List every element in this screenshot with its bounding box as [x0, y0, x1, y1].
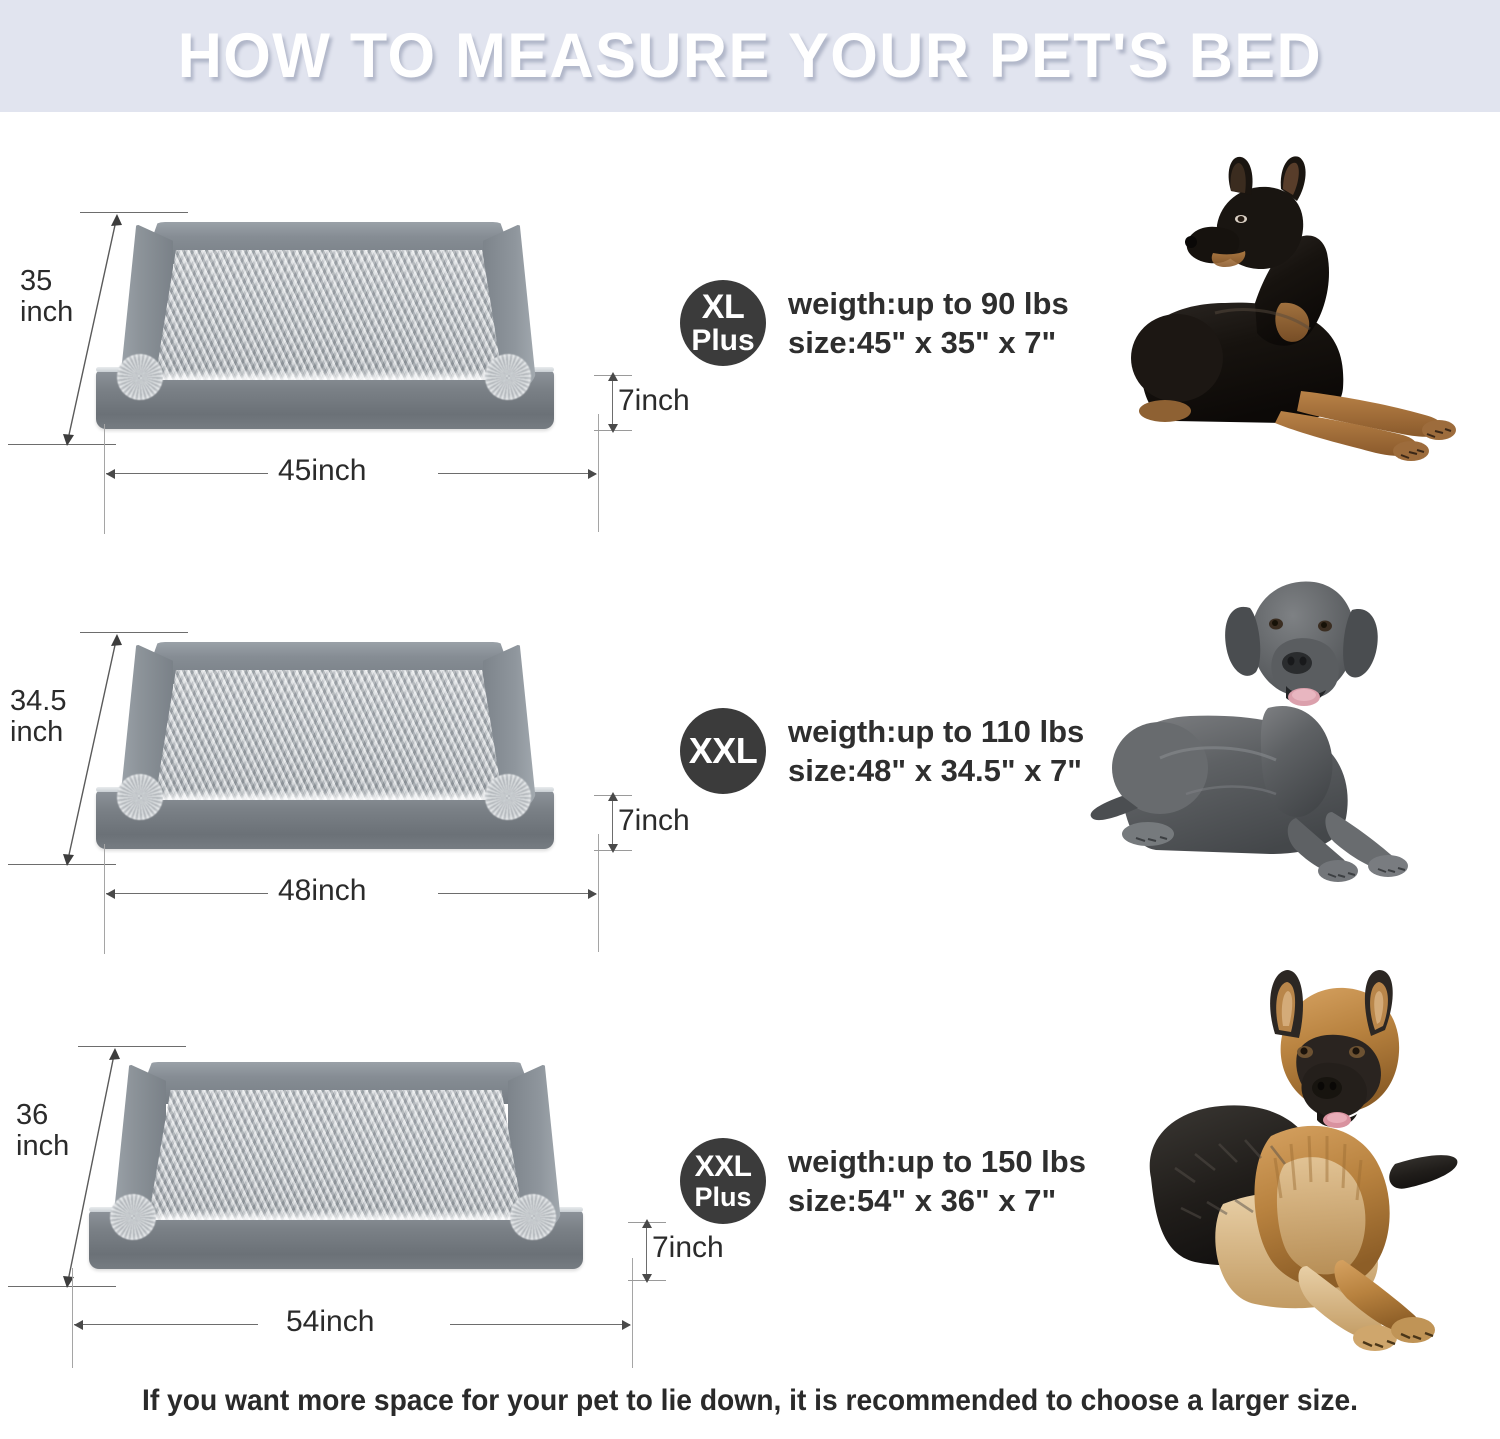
spec-block-3: XXL Plus weigth:up to 150 lbs size:54" x… — [680, 1138, 1100, 1224]
depth-arrow-up — [642, 1219, 652, 1228]
size-badge-xl-plus: XL Plus — [680, 280, 766, 366]
height-value: 35 — [20, 265, 52, 297]
badge-line-2: Plus — [694, 1184, 751, 1211]
width-extension-right — [598, 834, 599, 952]
width-arrow-right — [588, 469, 597, 479]
height-unit: inch — [16, 1130, 69, 1162]
depth-dimension-label: 7inch — [618, 385, 690, 417]
dog-photo-great-dane — [1090, 568, 1490, 898]
width-arrow-right — [622, 1320, 631, 1330]
width-dimension-line-left — [106, 893, 268, 894]
dog-bed-graphic — [88, 1054, 588, 1269]
width-arrow-left — [106, 469, 115, 479]
size-label: size:54" x 36" x 7" — [788, 1181, 1086, 1220]
width-dimension-label: 54inch — [286, 1306, 374, 1338]
width-dimension-label: 48inch — [278, 875, 366, 907]
height-value: 34.5 — [10, 685, 66, 717]
depth-arrow-down — [642, 1274, 652, 1283]
width-arrow-left — [106, 889, 115, 899]
width-arrow-left — [74, 1320, 83, 1330]
bed-seat-cushion — [148, 1090, 524, 1220]
height-dimension-arrow — [55, 1044, 125, 1292]
dog-photo-german-shepherd — [1095, 968, 1495, 1368]
size-label: size:45" x 35" x 7" — [788, 323, 1069, 362]
depth-arrow-down — [608, 424, 618, 433]
depth-arrow-down — [608, 844, 618, 853]
spec-text-3: weigth:up to 150 lbs size:54" x 36" x 7" — [788, 1142, 1086, 1220]
bolster-end-cap-right — [510, 1194, 556, 1240]
height-unit: inch — [10, 716, 63, 748]
width-extension-right — [632, 1258, 633, 1368]
depth-arrow-up — [608, 372, 618, 381]
width-extension-left — [104, 424, 105, 534]
size-badge-xxl-plus: XXL Plus — [680, 1138, 766, 1224]
bed-illustration-3: 36 inch 54inch 7inch — [0, 968, 700, 1388]
dog-bed-graphic — [95, 634, 560, 849]
weight-label: weigth:up to 110 lbs — [788, 712, 1084, 751]
badge-line-1: XL — [702, 290, 744, 324]
depth-dimension-label: 7inch — [618, 805, 690, 837]
spec-block-2: XXL weigth:up to 110 lbs size:48" x 34.5… — [680, 708, 1100, 794]
depth-dimension-line — [646, 1225, 647, 1280]
size-row-xxl-plus: 36 inch 54inch 7inch XXL Plus weigth:up … — [0, 968, 1500, 1388]
bed-seat-cushion — [155, 250, 503, 380]
dog-photo-doberman — [1105, 153, 1495, 483]
width-dimension-line-right — [450, 1324, 630, 1325]
width-extension-left — [72, 1268, 73, 1368]
bolster-end-cap-right — [485, 354, 531, 400]
width-extension-left — [104, 844, 105, 954]
width-dimension-label: 45inch — [278, 455, 366, 487]
height-dimension-arrow — [55, 630, 125, 870]
bolster-end-cap-right — [485, 774, 531, 820]
footer-note: If you want more space for your pet to l… — [45, 1384, 1455, 1418]
size-row-xxl: 34.5 inch 48inch 7inch XXL weigth:up to … — [0, 548, 1500, 968]
depth-dimension-label: 7inch — [652, 1232, 724, 1264]
depth-arrow-up — [608, 792, 618, 801]
width-dimension-line-left — [74, 1324, 258, 1325]
height-dimension-label: 34.5 inch — [10, 686, 66, 747]
depth-dimension-line — [612, 798, 613, 850]
height-value: 36 — [16, 1099, 48, 1131]
size-badge-xxl: XXL — [680, 708, 766, 794]
height-unit: inch — [20, 296, 73, 328]
width-extension-right — [598, 414, 599, 532]
width-dimension-line-left — [106, 473, 268, 474]
size-row-xl-plus: 35 inch 45inch 7inch XL Plus weigth:up t… — [0, 128, 1500, 548]
height-dimension-label: 36 inch — [16, 1100, 69, 1161]
height-dimension-arrow — [55, 210, 125, 450]
badge-line-2: Plus — [691, 326, 754, 356]
spec-text-1: weigth:up to 90 lbs size:45" x 35" x 7" — [788, 284, 1069, 362]
dog-bed-graphic — [95, 214, 560, 429]
depth-dimension-line — [612, 378, 613, 430]
size-label: size:48" x 34.5" x 7" — [788, 751, 1084, 790]
badge-line-1: XXL — [695, 1152, 752, 1182]
weight-label: weigth:up to 150 lbs — [788, 1142, 1086, 1181]
badge-line-1: XXL — [689, 733, 758, 769]
page-title: HOW TO MEASURE YOUR PET'S BED — [178, 20, 1322, 92]
width-dimension-line-right — [438, 473, 596, 474]
spec-text-2: weigth:up to 110 lbs size:48" x 34.5" x … — [788, 712, 1084, 790]
weight-label: weigth:up to 90 lbs — [788, 284, 1069, 323]
bed-seat-cushion — [155, 670, 503, 800]
header-banner: HOW TO MEASURE YOUR PET'S BED — [0, 0, 1500, 112]
height-dimension-label: 35 inch — [20, 266, 73, 327]
width-arrow-right — [588, 889, 597, 899]
spec-block-1: XL Plus weigth:up to 90 lbs size:45" x 3… — [680, 280, 1100, 366]
bed-illustration-1: 35 inch 45inch 7inch — [0, 128, 700, 548]
bed-illustration-2: 34.5 inch 48inch 7inch — [0, 548, 700, 968]
width-dimension-line-right — [438, 893, 596, 894]
